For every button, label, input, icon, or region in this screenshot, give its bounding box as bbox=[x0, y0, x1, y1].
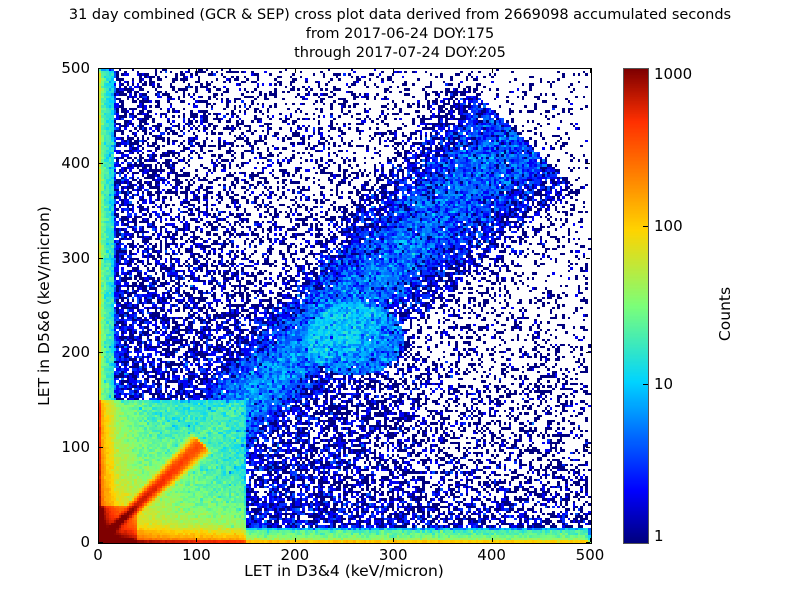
colorbar-title: Counts bbox=[716, 189, 734, 439]
y-tick-200 bbox=[586, 352, 590, 353]
colorbar-tick-label-1: 1 bbox=[654, 527, 664, 545]
figure-title: 31 day combined (GCR & SEP) cross plot d… bbox=[0, 6, 800, 63]
colorbar-tick-label-10: 10 bbox=[654, 375, 673, 393]
y-axis-title: LET in D5&6 (keV/micron) bbox=[35, 69, 53, 543]
colorbar-tick-label-100: 100 bbox=[654, 217, 683, 235]
x-tick-500 bbox=[590, 69, 591, 73]
y-tick-400 bbox=[99, 163, 103, 164]
y-tick-100 bbox=[586, 447, 590, 448]
colorbar bbox=[623, 68, 649, 544]
x-axis-title: LET in D3&4 (keV/micron) bbox=[98, 562, 590, 580]
title-line-3: through 2017-07-24 DOY:205 bbox=[0, 44, 800, 63]
x-tick-100 bbox=[196, 69, 197, 73]
y-tick-400 bbox=[586, 163, 590, 164]
x-tick-200 bbox=[295, 69, 296, 73]
x-tick-400 bbox=[492, 69, 493, 73]
y-tick-0 bbox=[99, 542, 103, 543]
y-tick-500 bbox=[99, 68, 103, 69]
x-tick-100 bbox=[196, 538, 197, 542]
title-line-1: 31 day combined (GCR & SEP) cross plot d… bbox=[0, 6, 800, 25]
colorbar-tick-10 bbox=[643, 384, 648, 385]
y-tick-300 bbox=[99, 258, 103, 259]
y-tick-300 bbox=[586, 258, 590, 259]
colorbar-tick-100 bbox=[643, 226, 648, 227]
y-tick-100 bbox=[99, 447, 103, 448]
y-tick-0 bbox=[586, 542, 590, 543]
density-heatmap-canvas bbox=[99, 69, 591, 543]
title-line-2: from 2017-06-24 DOY:175 bbox=[0, 25, 800, 44]
colorbar-tick-label-1000: 1000 bbox=[654, 65, 692, 83]
x-tick-400 bbox=[492, 538, 493, 542]
x-tick-200 bbox=[295, 538, 296, 542]
x-tick-300 bbox=[393, 69, 394, 73]
plot-area bbox=[98, 68, 592, 544]
y-tick-500 bbox=[586, 68, 590, 69]
x-tick-300 bbox=[393, 538, 394, 542]
x-tick-0 bbox=[98, 69, 99, 73]
colorbar-gradient bbox=[624, 69, 648, 543]
y-tick-200 bbox=[99, 352, 103, 353]
x-tick-500 bbox=[590, 538, 591, 542]
